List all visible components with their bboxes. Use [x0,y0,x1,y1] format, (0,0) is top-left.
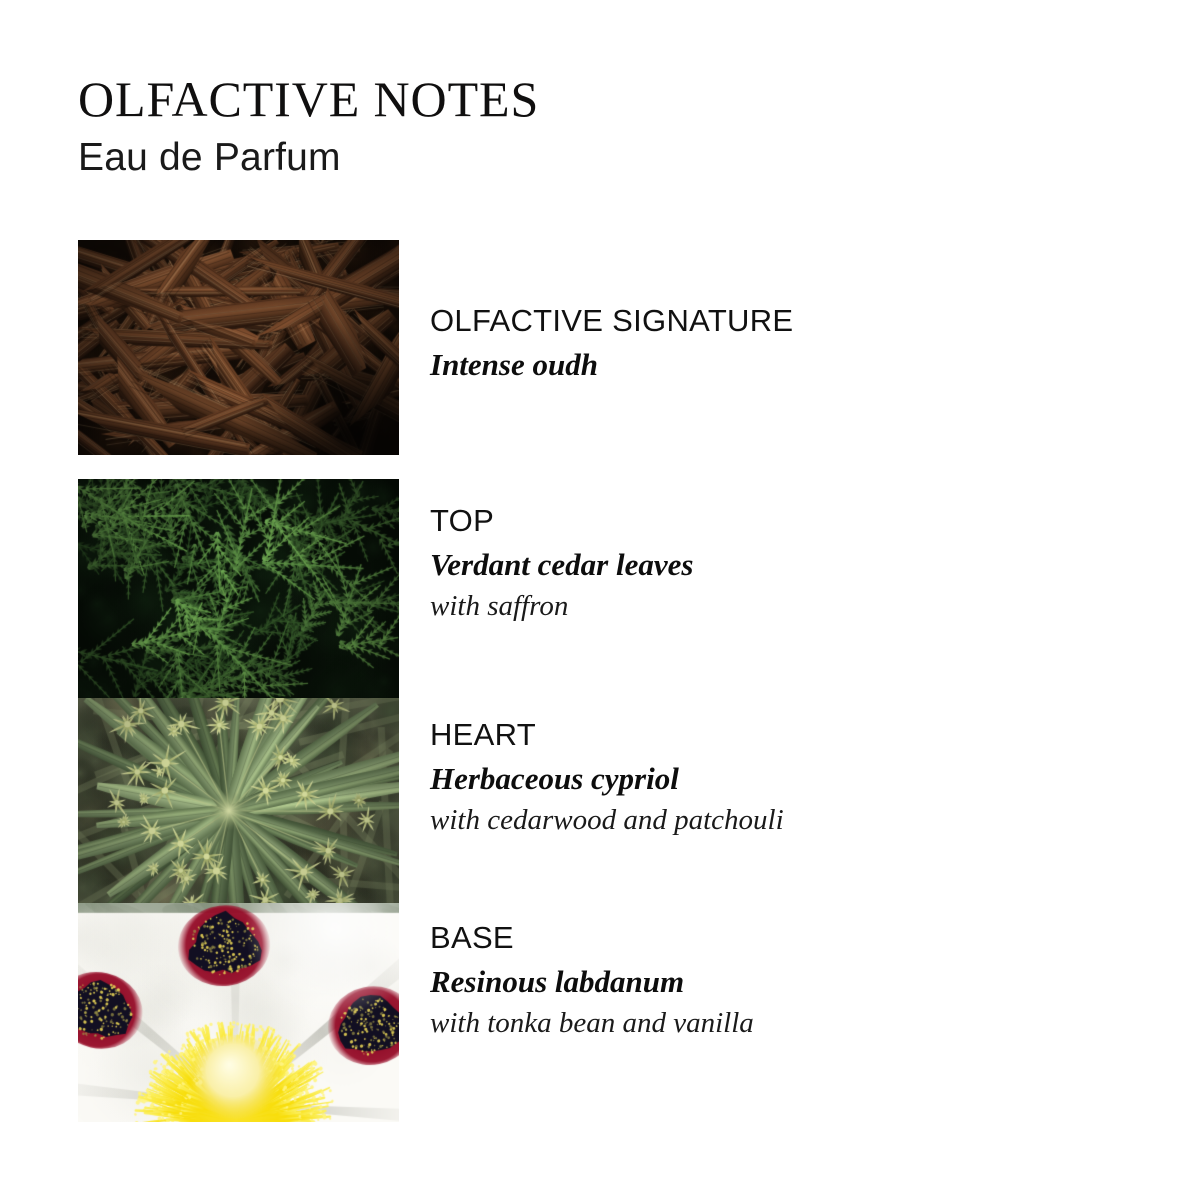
note-sub-heart: with cedarwood and patchouli [430,803,1130,837]
note-main-top: Verdant cedar leaves [430,547,1130,584]
note-main-signature: Intense oudh [430,347,1130,384]
note-main-base: Resinous labdanum [430,964,1130,1001]
note-label-base: BASE [430,921,1130,955]
note-block-signature: OLFACTIVE SIGNATURE Intense oudh [430,304,1130,384]
note-label-top: TOP [430,504,1130,538]
page-subtitle: Eau de Parfum [78,138,978,177]
note-block-top: TOP Verdant cedar leaves with saffron [430,504,1130,623]
note-block-base: BASE Resinous labdanum with tonka bean a… [430,921,1130,1040]
page-title: OLFACTIVE NOTES [78,74,978,124]
note-main-heart: Herbaceous cypriol [430,761,1130,798]
cypriol-plant-image [78,698,399,903]
note-block-heart: HEART Herbaceous cypriol with cedarwood … [430,718,1130,837]
page-header: OLFACTIVE NOTES Eau de Parfum [78,74,978,177]
note-label-signature: OLFACTIVE SIGNATURE [430,304,1130,338]
olfactive-notes-page: OLFACTIVE NOTES Eau de Parfum OLFACTIVE … [0,0,1200,1200]
note-sub-top: with saffron [430,589,1130,623]
note-image-column [78,240,399,1122]
oudh-wood-chips-image [78,240,399,455]
cedar-foliage-image [78,479,399,698]
note-sub-base: with tonka bean and vanilla [430,1006,1130,1040]
note-label-heart: HEART [430,718,1130,752]
labdanum-cistus-flower-image [78,903,399,1122]
